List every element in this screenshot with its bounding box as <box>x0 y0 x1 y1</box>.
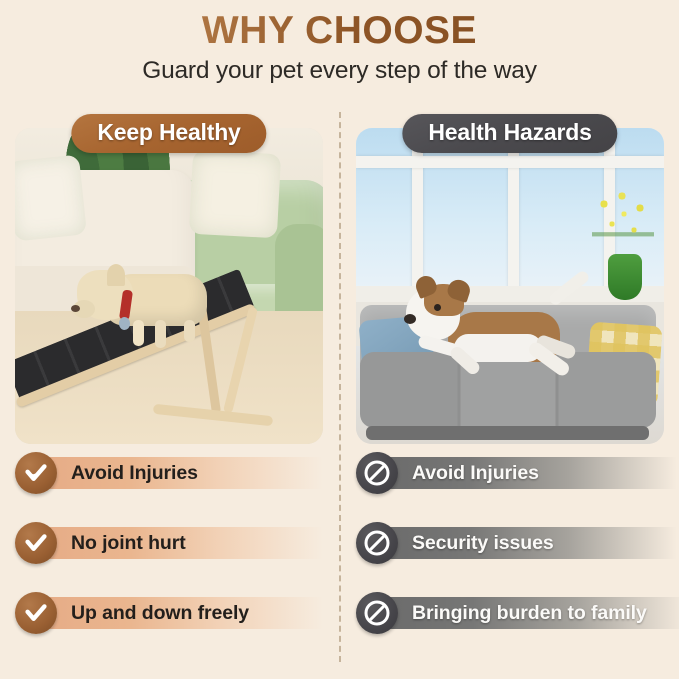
prohibition-icon <box>356 452 398 494</box>
cushion-left <box>15 154 87 241</box>
cushion-right <box>189 150 281 238</box>
list-item-label: Avoid Injuries <box>71 462 198 485</box>
comparison-columns: Keep Healthy Avoid Injuries <box>0 114 679 679</box>
list-item-label: No joint hurt <box>71 532 186 555</box>
list-item: Avoid Injuries <box>356 452 664 494</box>
list-item-label: Up and down freely <box>71 602 249 625</box>
page-title: WHY CHOOSE <box>0 0 679 52</box>
dog-nose <box>404 314 416 324</box>
window-transom <box>356 156 664 168</box>
prohibition-icon <box>356 522 398 564</box>
prohibition-icon <box>356 592 398 634</box>
page-subtitle: Guard your pet every step of the way <box>0 52 679 85</box>
dog-nose <box>71 305 80 312</box>
check-circle-icon <box>15 592 57 634</box>
list-item: No joint hurt <box>15 522 323 564</box>
list-item: Avoid Injuries <box>15 452 323 494</box>
dog-mid-leg <box>155 320 166 348</box>
photo-pet-ramp <box>15 128 323 444</box>
hazard-list: Avoid Injuries Security issues <box>356 452 664 662</box>
column-health-hazards: Health Hazards Avoid Injuries <box>356 114 664 444</box>
scene-living-room-couch <box>356 128 664 444</box>
dog-tag <box>119 317 130 330</box>
badge-keep-healthy: Keep Healthy <box>71 114 266 153</box>
list-item: Bringing burden to family <box>356 592 664 634</box>
scene-living-room-ramp <box>15 128 323 444</box>
list-item-label: Avoid Injuries <box>412 462 539 485</box>
list-item-label: Security issues <box>412 532 554 555</box>
couch-base <box>366 426 649 440</box>
page-header: WHY CHOOSE Guard your pet every step of … <box>0 0 679 96</box>
green-vase <box>608 254 642 300</box>
french-bulldog <box>77 258 207 336</box>
benefit-list: Avoid Injuries No joint hurt U <box>15 452 323 662</box>
dog-eye <box>434 304 441 311</box>
photo-dog-jumping <box>356 128 664 444</box>
list-item: Up and down freely <box>15 592 323 634</box>
list-item-label: Bringing burden to family <box>412 602 647 625</box>
photo-card-health-hazards: Health Hazards <box>356 114 664 444</box>
dog-rear-leg <box>184 320 195 342</box>
badge-health-hazards: Health Hazards <box>402 114 617 153</box>
column-keep-healthy: Keep Healthy Avoid Injuries <box>15 114 323 444</box>
dog-front-leg <box>133 320 144 346</box>
dog-ear <box>107 264 125 286</box>
list-item: Security issues <box>356 522 664 564</box>
check-circle-icon <box>15 522 57 564</box>
jack-russell-terrier <box>408 278 598 398</box>
photo-card-keep-healthy: Keep Healthy <box>15 114 323 444</box>
flower-bouquet-icon <box>592 190 654 262</box>
check-circle-icon <box>15 452 57 494</box>
